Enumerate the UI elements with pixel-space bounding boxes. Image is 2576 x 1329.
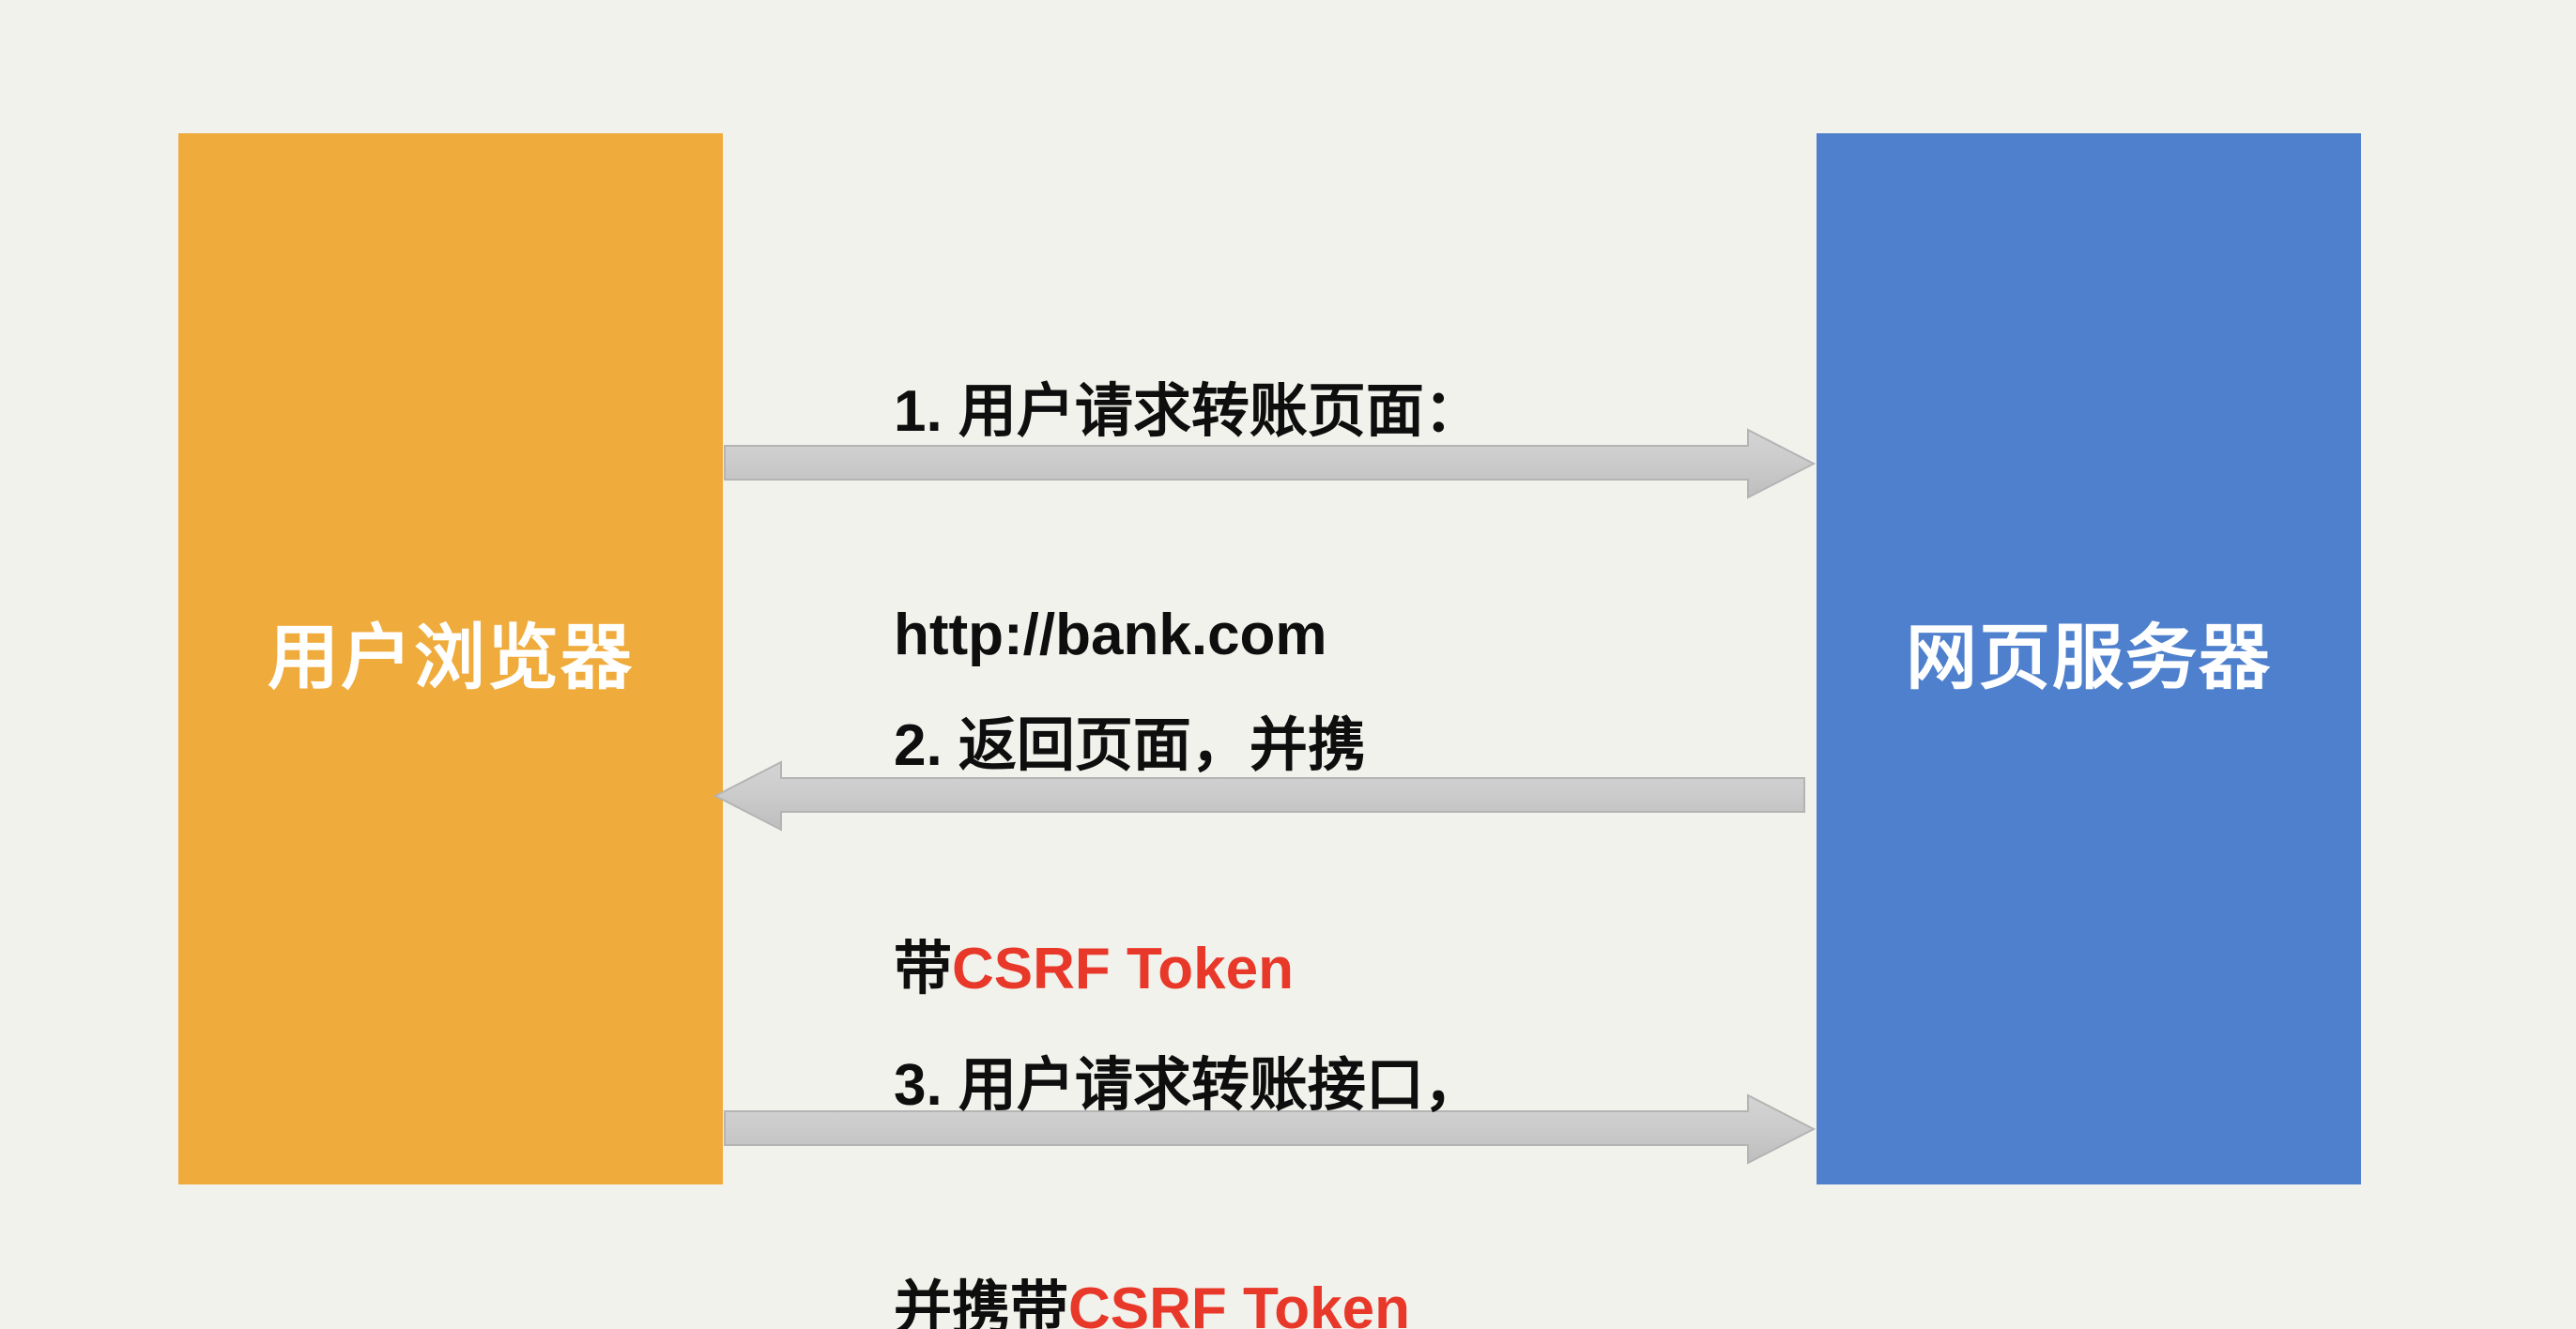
step-3-line-2-highlight: CSRF Token [1068, 1276, 1410, 1329]
node-user-browser-label: 用户浏览器 [268, 623, 634, 695]
step-3-line-2-text: 并携带 [894, 1276, 1068, 1329]
step-1-line-1: 1. 用户请求转账页面： [894, 374, 1482, 449]
step-2-line-1: 2. 返回页面，并携 [894, 709, 1366, 783]
node-web-server[interactable]: 网页服务器 [1817, 133, 2361, 1184]
diagram-canvas: 用户浏览器 网页服务器 [0, 0, 2576, 1329]
step-3-line-1: 3. 用户请求转账接口， [894, 1048, 1482, 1123]
node-user-browser[interactable]: 用户浏览器 [178, 133, 723, 1184]
step-3-line-2: 并携带CSRF Token [894, 1272, 1482, 1329]
step-3-label: 3. 用户请求转账接口， 并携带CSRF Token [894, 899, 1482, 1329]
node-web-server-label: 网页服务器 [1906, 623, 2272, 695]
